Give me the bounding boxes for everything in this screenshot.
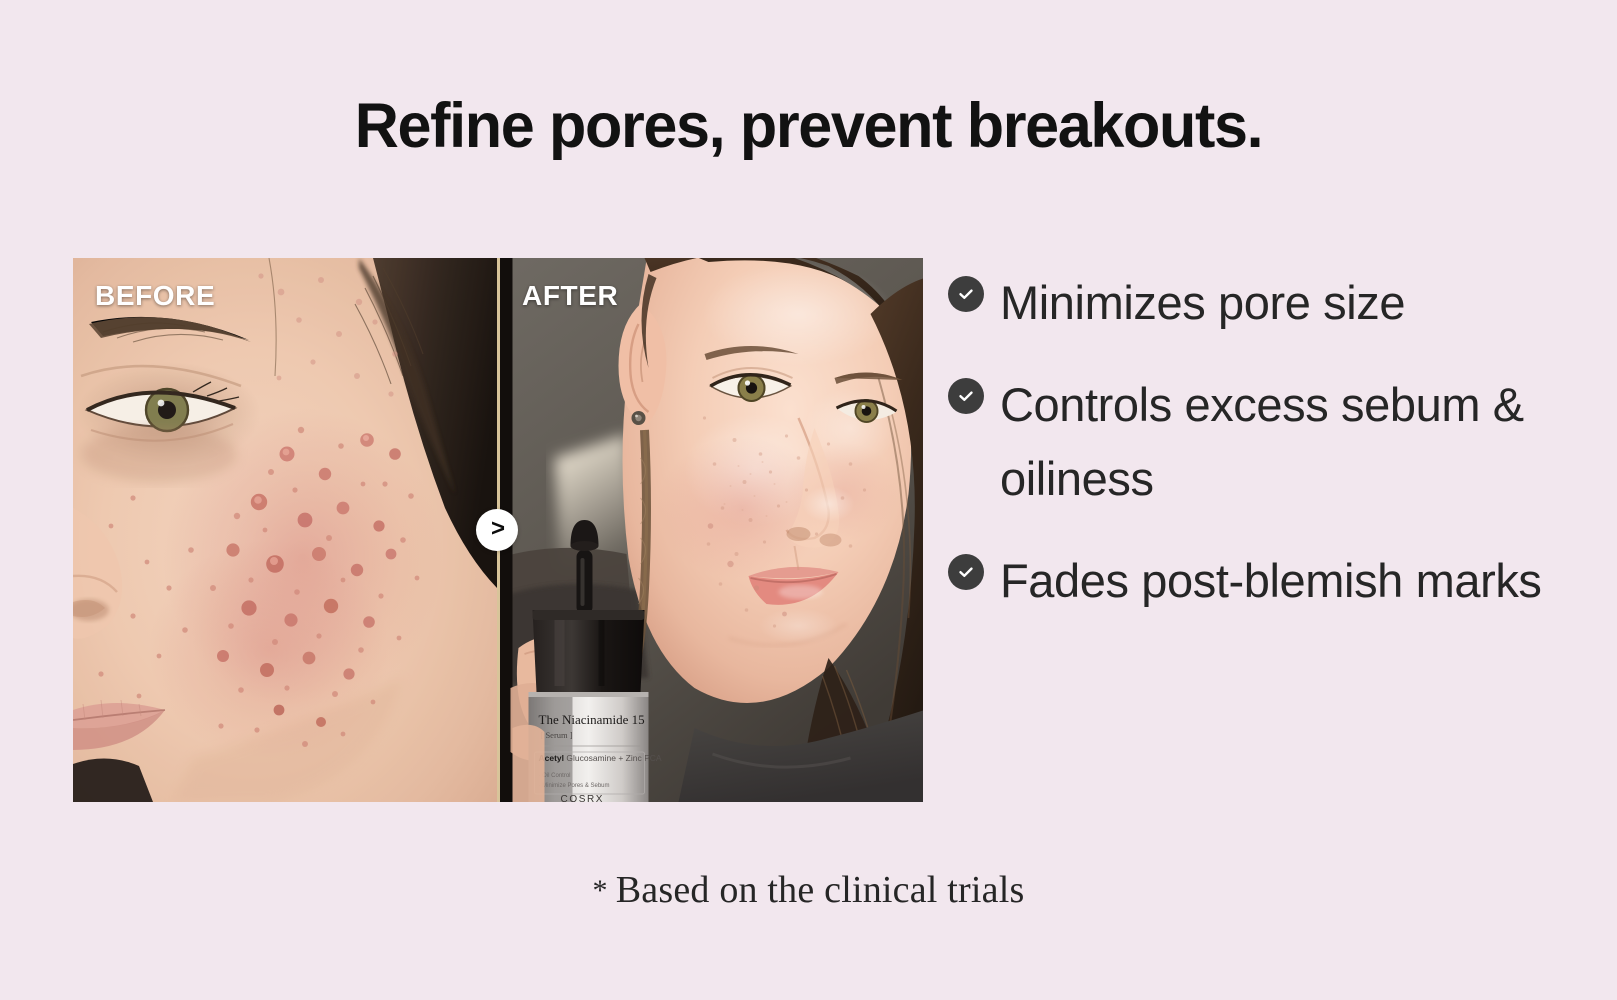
before-photo-image	[73, 258, 497, 802]
page-title: Refine pores, prevent breakouts.	[24, 90, 1592, 162]
benefit-item: Controls excess sebum & oiliness	[948, 368, 1568, 516]
bottle-sub-line: [ Serum ]	[541, 730, 573, 740]
footnote-star: *	[593, 874, 608, 907]
promo-banner: Refine pores, prevent breakouts.	[0, 0, 1617, 1000]
check-circle-icon	[948, 378, 984, 414]
footnote: *Based on the clinical trials	[0, 868, 1617, 912]
bottle-product-name: The Niacinamide 15	[539, 712, 645, 727]
benefit-label: Fades post-blemish marks	[1000, 544, 1542, 618]
bottle-brand: COSRX	[561, 794, 605, 802]
benefit-label: Minimizes pore size	[1000, 266, 1405, 340]
after-photo-panel: The Niacinamide 15 [ Serum ] Acetyl Gluc…	[497, 258, 923, 802]
after-label: AFTER	[522, 280, 618, 312]
benefit-label: Controls excess sebum & oiliness	[1000, 368, 1560, 516]
benefit-item: Minimizes pore size	[948, 266, 1568, 340]
check-circle-icon	[948, 276, 984, 312]
footnote-text: Based on the clinical trials	[616, 869, 1025, 911]
before-label: BEFORE	[95, 280, 215, 312]
before-after-comparison: BEFORE	[73, 258, 923, 802]
benefit-item: Fades post-blemish marks	[948, 544, 1568, 618]
bottle-active-bold: Acetyl Glucosamine + Zinc PCA	[539, 753, 662, 763]
after-photo-image: The Niacinamide 15 [ Serum ] Acetyl Gluc…	[500, 258, 923, 802]
check-circle-icon	[948, 554, 984, 590]
before-photo-panel: BEFORE	[73, 258, 497, 802]
chevron-right-glyph: >	[491, 517, 505, 541]
bottle-claim-2: · Minimize Pores & Sebum	[539, 783, 610, 789]
chevron-right-icon[interactable]: >	[476, 509, 518, 551]
benefits-list: Minimizes pore size Controls excess sebu…	[948, 266, 1568, 618]
